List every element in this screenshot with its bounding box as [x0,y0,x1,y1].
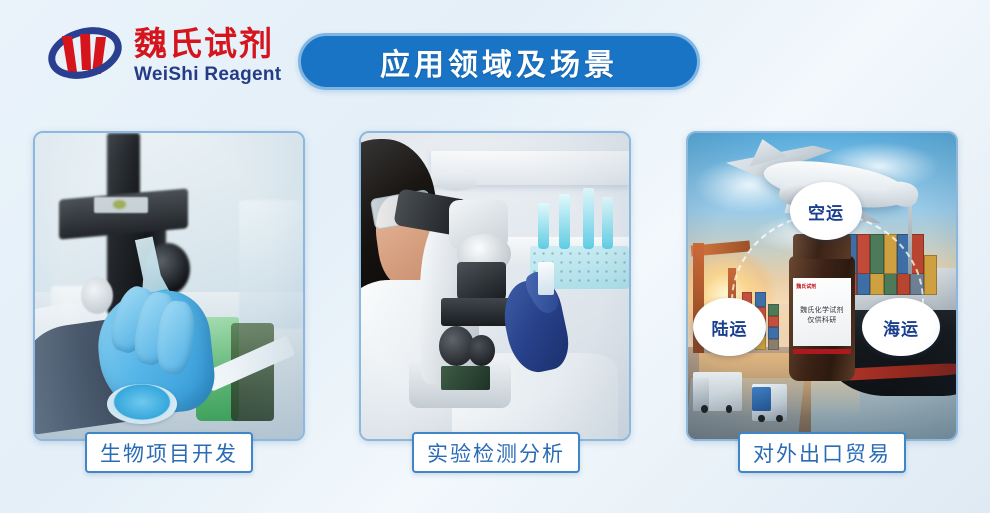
badge-sea-freight: 海运 [862,298,940,356]
badge-air-freight: 空运 [790,182,862,240]
page-title: 应用领域及场景 [380,40,618,84]
brand-name-cn: 魏氏试剂 [134,27,281,60]
bottle-brand-logo: 魏氏试剂 [796,283,816,290]
brand-name-en: WeiShi Reagent [134,65,281,84]
bottle-label-line-2: 仅供科研 [807,316,836,325]
card-bio-project-development[interactable] [33,131,305,441]
weishi-w-logo-icon [46,24,124,86]
card-experiment-testing-analysis[interactable] [359,131,631,441]
application-cards: 生物项目开发 [0,131,990,481]
badge-sea-freight-label: 海运 [883,315,919,340]
brand-text: 魏氏试剂 WeiShi Reagent [134,27,281,84]
section-title-banner: 应用领域及场景 [298,33,700,90]
card-caption-bio-project-development: 生物项目开发 [85,432,253,473]
badge-land-freight: 陆运 [693,298,765,356]
card-caption-label: 对外出口贸易 [753,438,891,468]
badge-land-freight-label: 陆运 [712,315,748,340]
card-caption-foreign-export-trade: 对外出口贸易 [738,432,906,473]
page-header: 魏氏试剂 WeiShi Reagent 应用领域及场景 [0,0,990,120]
card-photo-logistics: 魏氏试剂 魏氏化学试剂 仅供科研 空运 陆运 海运 [688,133,956,439]
card-caption-label: 实验检测分析 [427,438,565,468]
card-caption-label: 生物项目开发 [100,438,238,468]
reagent-bottle: 魏氏试剂 魏氏化学试剂 仅供科研 [787,234,857,381]
card-photo-scientist-microscope [361,133,629,439]
bottle-label-line-1: 魏氏化学试剂 [800,306,844,315]
card-photo-lab-flask [35,133,303,439]
badge-air-freight-label: 空运 [808,199,844,224]
card-foreign-export-trade[interactable]: 魏氏试剂 魏氏化学试剂 仅供科研 空运 陆运 海运 [686,131,958,441]
brand-logo: 魏氏试剂 WeiShi Reagent [46,24,281,86]
card-caption-experiment-testing-analysis: 实验检测分析 [412,432,580,473]
